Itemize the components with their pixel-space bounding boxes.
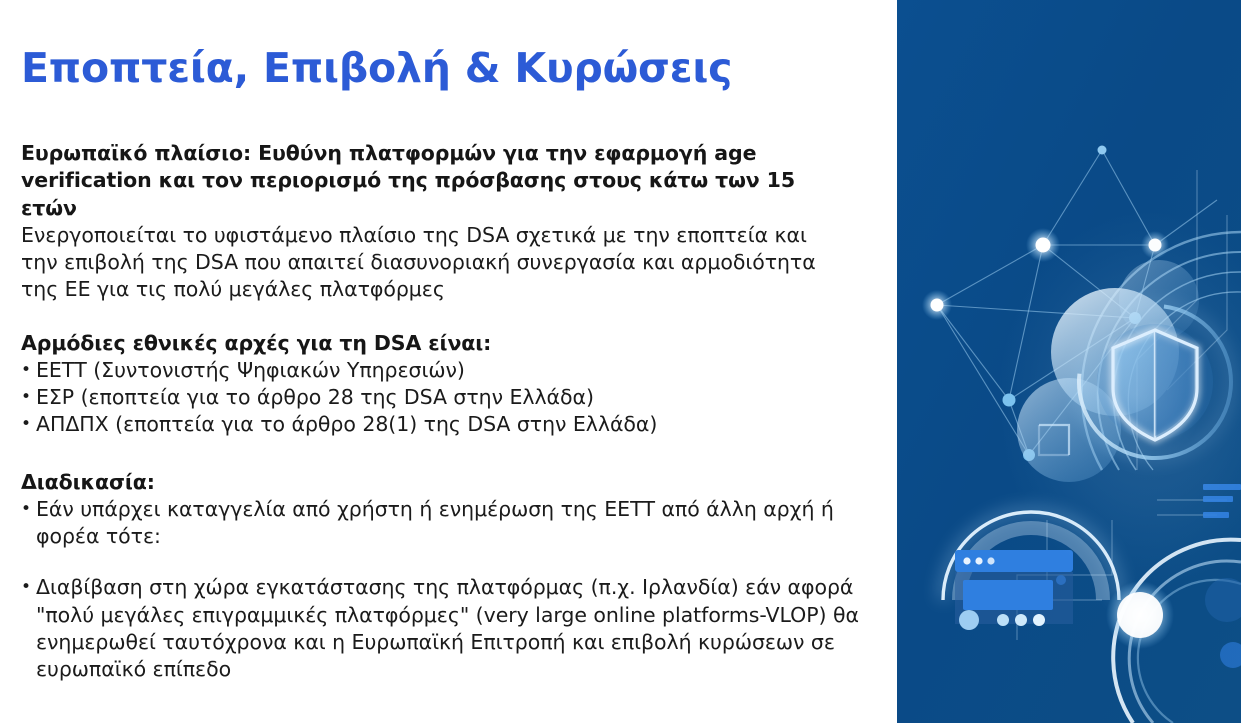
procedure-heading: Διαδικασία:	[21, 469, 861, 496]
browser-button	[1015, 614, 1027, 626]
section-authorities: Αρμόδιες εθνικές αρχές για τη DSA είναι:…	[21, 330, 861, 439]
list-item: Διαβίβαση στη χώρα εγκατάστασης της πλατ…	[21, 574, 861, 683]
spacer	[21, 304, 861, 330]
list-item: ΑΠΔΠΧ (εποπτεία για το άρθρο 28(1) της D…	[21, 411, 861, 438]
page-title: Εποπτεία, Επιβολή & Κυρώσεις	[21, 44, 732, 92]
authorities-heading: Αρμόδιες εθνικές αρχές για τη DSA είναι:	[21, 330, 861, 357]
eu-framework-paragraph: Ενεργοποιείται το υφιστάμενο πλαίσιο της…	[21, 222, 839, 304]
network-node	[1098, 146, 1107, 155]
browser-button	[997, 614, 1009, 626]
browser-button	[959, 610, 979, 630]
network-node	[931, 299, 944, 312]
list-item: ΕΕΤΤ (Συντονιστής Ψηφιακών Υπηρεσιών)	[21, 357, 861, 384]
section-procedure: Διαδικασία: Εάν υπάρχει καταγγελία από χ…	[21, 469, 861, 684]
decorative-art-panel	[897, 0, 1241, 723]
body-area: Ευρωπαϊκό πλαίσιο: Ευθύνη πλατφορμών για…	[21, 140, 861, 683]
browser-dot	[963, 557, 970, 564]
browser-content-block	[963, 580, 1053, 610]
slide: Εποπτεία, Επιβολή & Κυρώσεις Ευρωπαϊκό π…	[0, 0, 1241, 723]
eu-framework-lead: Ευρωπαϊκό πλαίσιο: Ευθύνη πλατφορμών για…	[21, 140, 851, 222]
list-item: ΕΣΡ (εποπτεία για το άρθρο 28 της DSA στ…	[21, 384, 861, 411]
browser-titlebar	[955, 550, 1073, 572]
slide-content: Εποπτεία, Επιβολή & Κυρώσεις Ευρωπαϊκό π…	[0, 0, 897, 723]
browser-button	[1033, 614, 1045, 626]
browser-dot	[987, 557, 994, 564]
procedure-list: Εάν υπάρχει καταγγελία από χρήστη ή ενημ…	[21, 496, 861, 684]
browser-window	[955, 550, 1073, 630]
section-eu-framework: Ευρωπαϊκό πλαίσιο: Ευθύνη πλατφορμών για…	[21, 140, 861, 304]
list-item: Εάν υπάρχει καταγγελία από χρήστη ή ενημ…	[21, 496, 861, 551]
cybersecurity-illustration	[897, 0, 1241, 723]
spacer	[21, 439, 861, 469]
authorities-list: ΕΕΤΤ (Συντονιστής Ψηφιακών Υπηρεσιών) ΕΣ…	[21, 357, 861, 439]
browser-corner-dot	[1056, 575, 1066, 585]
network-node	[1036, 238, 1051, 253]
browser-dot	[975, 557, 982, 564]
